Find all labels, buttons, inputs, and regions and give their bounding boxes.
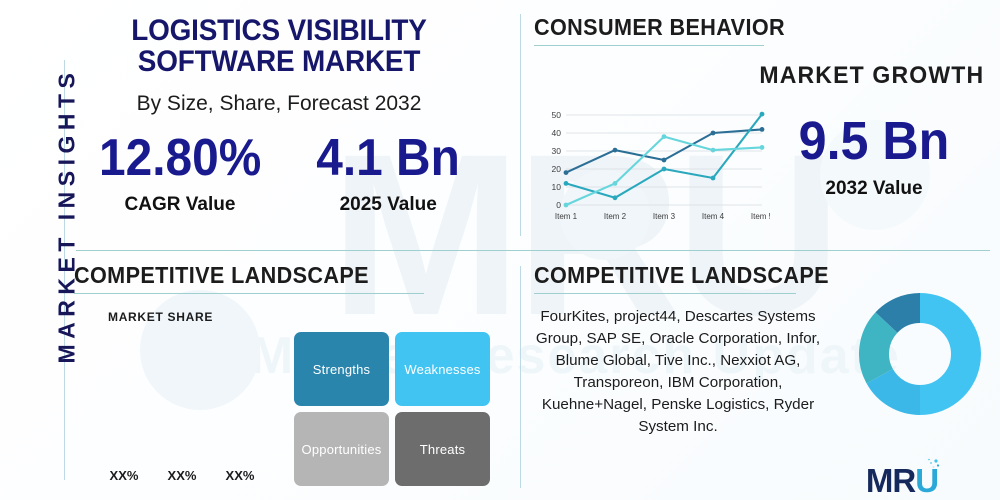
- divider-vertical-bottom-middle: [520, 266, 521, 488]
- panel-header: LOGISTICS VISIBILITY SOFTWARE MARKET By …: [74, 6, 484, 236]
- stat-cagr-label: CAGR Value: [92, 194, 268, 216]
- market-share-bar-label: XX%: [106, 468, 142, 483]
- svg-text:50: 50: [552, 110, 562, 120]
- market-growth-label: 2032 Value: [784, 178, 964, 200]
- stat-2025-label: 2025 Value: [310, 194, 466, 216]
- market-share-bar-column: XX%: [164, 468, 200, 488]
- competitive-right-rule: [534, 293, 796, 294]
- stat-2025: 4.1 Bn 2025 Value: [310, 132, 466, 216]
- swot-box-weaknesses[interactable]: Weaknesses: [395, 332, 490, 406]
- key-players-list: FourKites, project44, Descartes Systems …: [530, 306, 826, 438]
- svg-text:0: 0: [556, 200, 561, 210]
- brand-logo: MRU Market Research Update: [822, 464, 982, 500]
- divider-vertical-top-middle: [520, 14, 521, 236]
- market-growth-stat: 9.5 Bn 2032 Value: [784, 114, 964, 200]
- stat-cagr-value: 12.80%: [99, 132, 261, 184]
- competitive-left-rule: [74, 293, 424, 294]
- svg-text:Item 1: Item 1: [555, 212, 578, 221]
- svg-text:20: 20: [552, 164, 562, 174]
- market-share-bar-column: XX%: [222, 468, 258, 488]
- competitive-right-heading: COMPETITIVE LANDSCAPE: [534, 262, 963, 289]
- logo-mark: MRU: [866, 464, 938, 497]
- svg-text:Item 3: Item 3: [653, 212, 676, 221]
- donut-segment: [920, 308, 966, 400]
- competitive-left-body: MARKET SHARE XX%XX%XX% StrengthsWeakness…: [74, 308, 504, 493]
- header-stats: 12.80% CAGR Value 4.1 Bn 2025 Value: [74, 132, 484, 216]
- infographic-canvas: MRU Market Research Update MARKET INSIGH…: [0, 0, 1000, 500]
- page-subtitle: By Size, Share, Forecast 2032: [74, 92, 484, 116]
- market-share-donut-chart: [856, 290, 984, 423]
- svg-text:30: 30: [552, 146, 562, 156]
- competitive-right-body: FourKites, project44, Descartes Systems …: [534, 306, 990, 438]
- svg-text:10: 10: [552, 182, 562, 192]
- market-share-caption: MARKET SHARE: [108, 310, 213, 324]
- stat-2025-value: 4.1 Bn: [316, 132, 460, 184]
- competitive-left-heading: COMPETITIVE LANDSCAPE: [74, 262, 478, 289]
- market-share-bar-chart: XX%XX%XX%: [106, 338, 286, 488]
- logo-dots-icon: [925, 458, 941, 474]
- donut-chart-svg: [856, 290, 984, 418]
- panel-consumer-behavior: CONSUMER BEHAVIOR MARKET GROWTH 9.5 Bn 2…: [534, 14, 990, 236]
- swot-grid: StrengthsWeaknessesOpportunitiesThreats: [294, 332, 490, 486]
- page-title: LOGISTICS VISIBILITY SOFTWARE MARKET: [88, 6, 469, 78]
- logo-mark-prefix: MR: [866, 462, 915, 499]
- swot-box-threats[interactable]: Threats: [395, 412, 490, 486]
- panel-competitive-right: COMPETITIVE LANDSCAPE FourKites, project…: [534, 262, 990, 494]
- donut-segment: [874, 323, 886, 377]
- market-share-bar-label: XX%: [164, 468, 200, 483]
- donut-segment: [880, 376, 920, 400]
- donut-segment: [886, 308, 920, 323]
- market-growth-heading: MARKET GROWTH: [759, 62, 984, 90]
- svg-text:Item 2: Item 2: [604, 212, 627, 221]
- svg-text:40: 40: [552, 128, 562, 138]
- divider-horizontal: [76, 250, 990, 251]
- market-share-bar-label: XX%: [222, 468, 258, 483]
- stat-cagr: 12.80% CAGR Value: [92, 132, 268, 216]
- market-growth-value: 9.5 Bn: [790, 114, 957, 168]
- market-share-bar-column: XX%: [106, 468, 142, 488]
- svg-text:Item 4: Item 4: [702, 212, 725, 221]
- line-chart-svg: 01020304050Item 1Item 2Item 3Item 4Item …: [540, 100, 770, 225]
- consumer-behavior-rule: [534, 45, 764, 46]
- swot-box-strengths[interactable]: Strengths: [294, 332, 389, 406]
- consumer-behavior-line-chart: 01020304050Item 1Item 2Item 3Item 4Item …: [540, 100, 770, 230]
- side-label-market-insights: MARKET INSIGHTS: [54, 74, 81, 364]
- swot-box-opportunities[interactable]: Opportunities: [294, 412, 389, 486]
- consumer-behavior-heading: CONSUMER BEHAVIOR: [534, 14, 963, 41]
- svg-text:Item 5: Item 5: [751, 212, 770, 221]
- panel-competitive-left: COMPETITIVE LANDSCAPE MARKET SHARE XX%XX…: [74, 262, 504, 494]
